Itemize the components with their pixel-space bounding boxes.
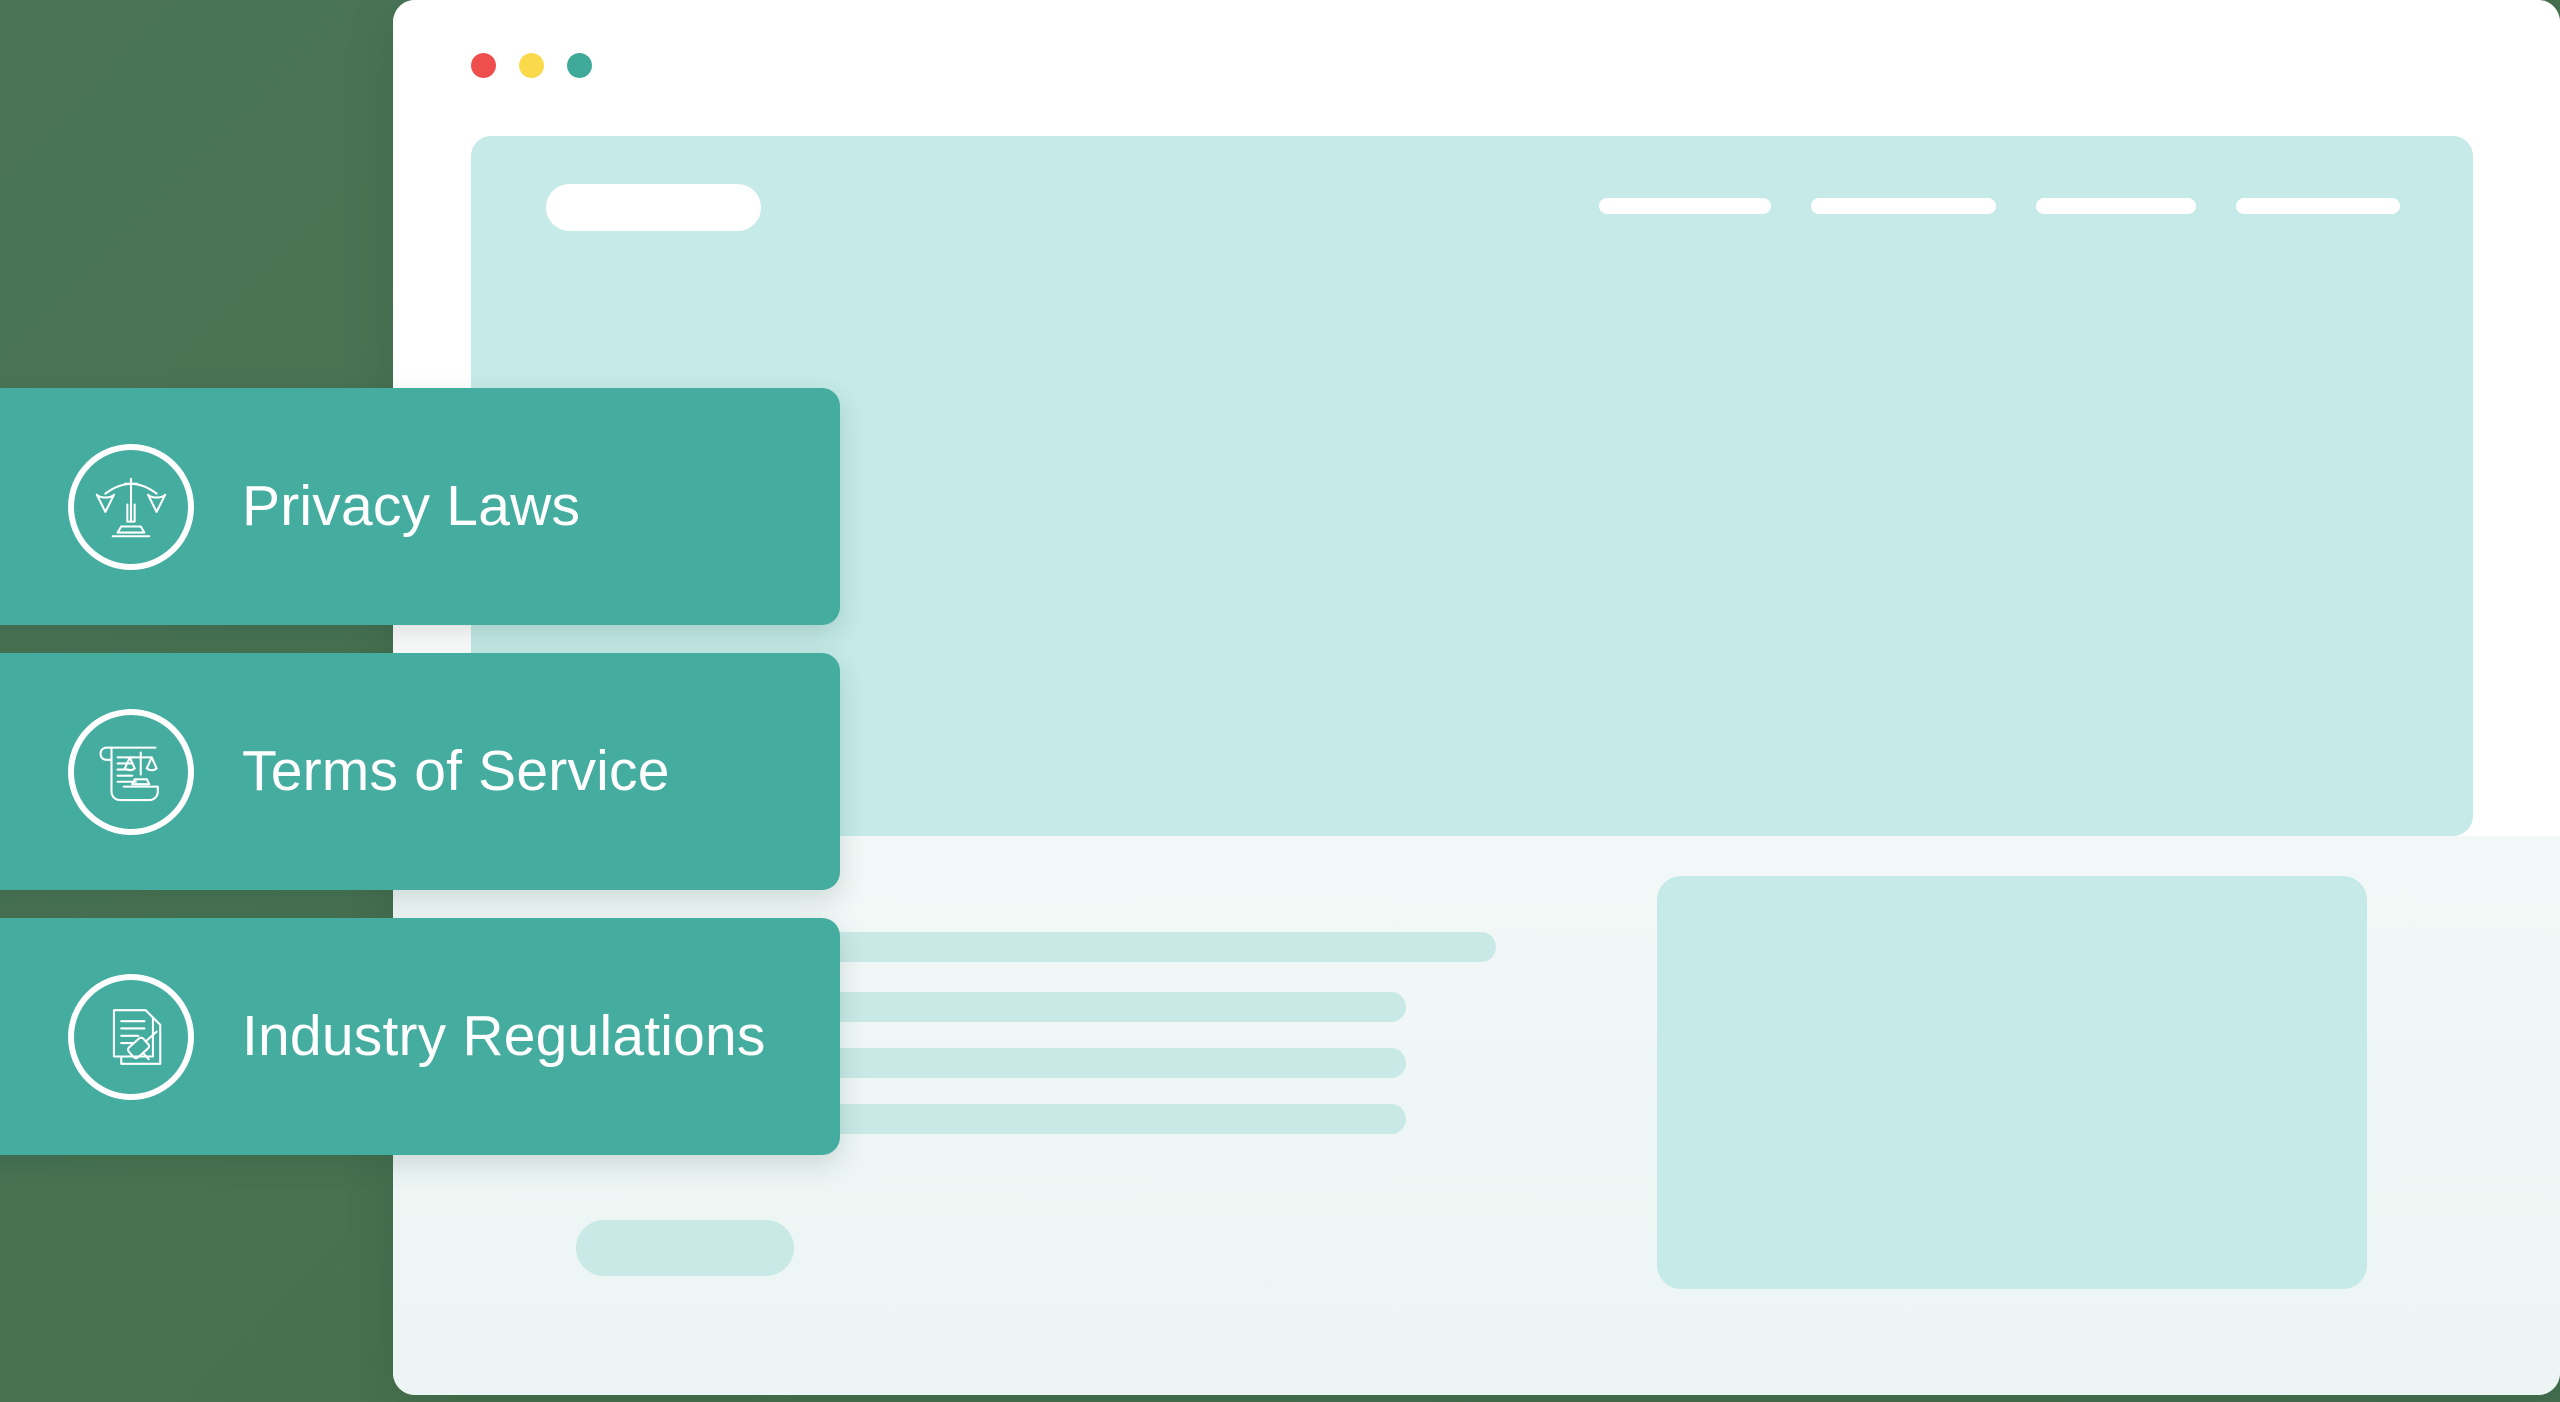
minimize-window-dot[interactable] <box>519 53 544 78</box>
media-card-placeholder <box>1657 876 2367 1289</box>
documents-gavel-icon <box>68 974 194 1100</box>
category-pill-label: Industry Regulations <box>242 1005 766 1068</box>
browser-title-bar <box>393 0 2560 136</box>
category-pill-industry-regulations[interactable]: Industry Regulations <box>0 918 840 1155</box>
page-background: Privacy Laws Terms of <box>0 0 2560 1402</box>
nav-item-placeholder-4[interactable] <box>2236 198 2400 214</box>
nav-item-placeholder-2[interactable] <box>1811 198 1996 214</box>
maximize-window-dot[interactable] <box>567 53 592 78</box>
brand-logo-placeholder[interactable] <box>546 184 761 231</box>
nav-item-placeholder-3[interactable] <box>2036 198 2196 214</box>
legal-scroll-scales-icon <box>68 709 194 835</box>
window-traffic-lights <box>471 53 592 78</box>
category-pill-label: Terms of Service <box>242 740 670 803</box>
category-pill-privacy-laws[interactable]: Privacy Laws <box>0 388 840 625</box>
primary-nav-placeholder <box>1599 198 2400 214</box>
nav-item-placeholder-1[interactable] <box>1599 198 1771 214</box>
category-pill-terms-of-service[interactable]: Terms of Service <box>0 653 840 890</box>
category-pill-label: Privacy Laws <box>242 475 580 538</box>
close-window-dot[interactable] <box>471 53 496 78</box>
balance-scales-icon <box>68 444 194 570</box>
cta-button-placeholder[interactable] <box>576 1220 794 1276</box>
